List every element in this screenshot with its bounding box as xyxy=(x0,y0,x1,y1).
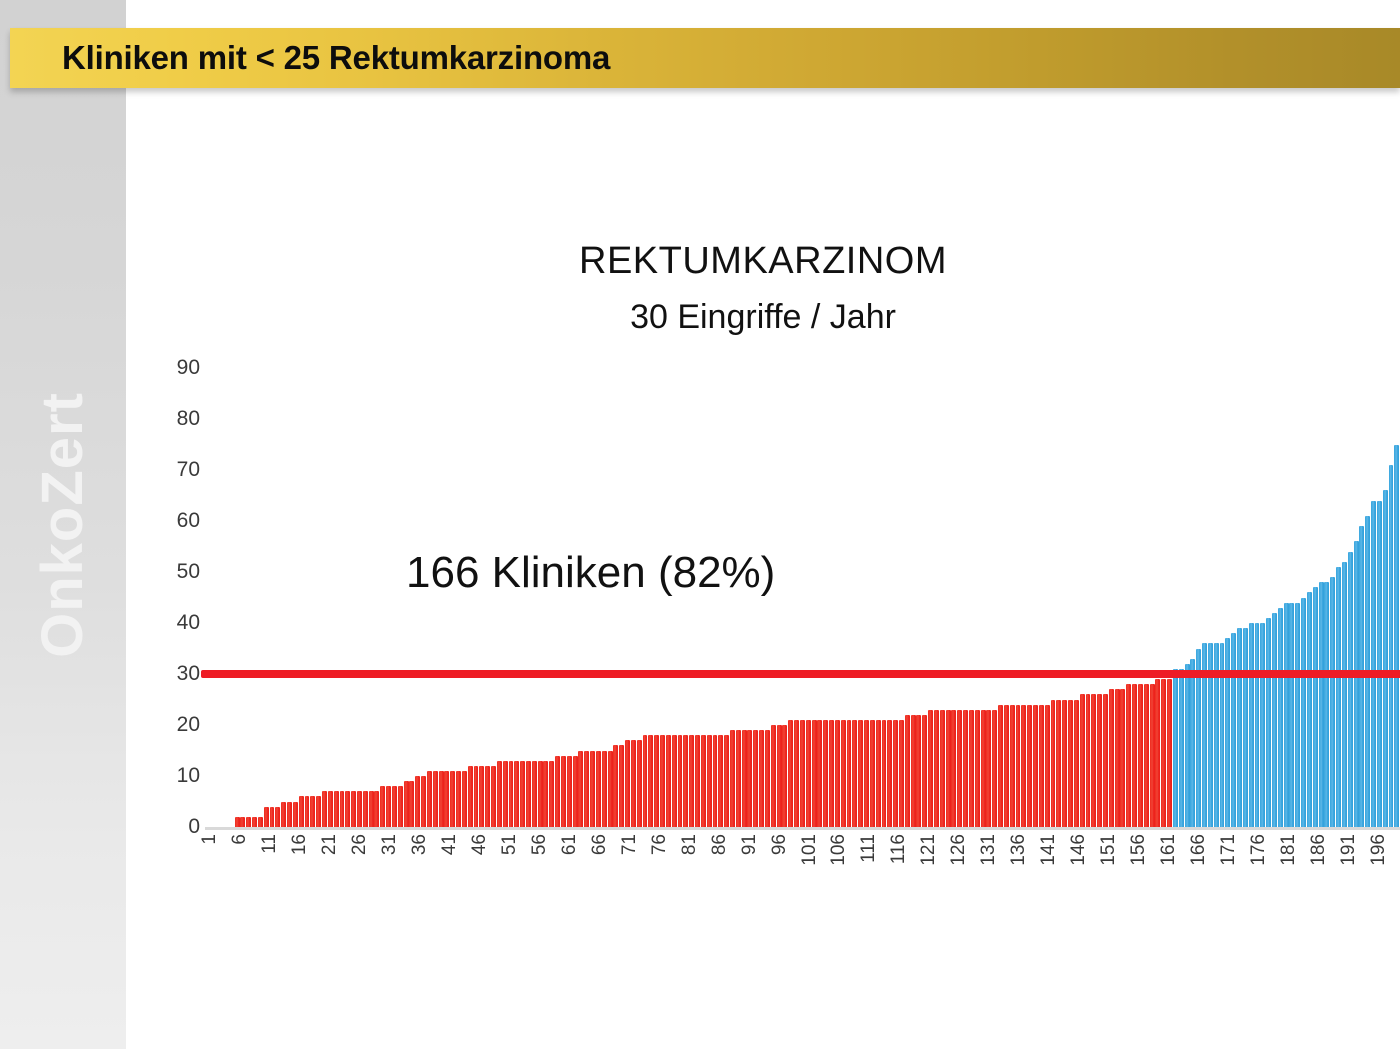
bar-fill xyxy=(386,786,391,827)
bar-fill xyxy=(1307,592,1312,827)
x-axis-tick-label: 101 xyxy=(799,834,821,866)
bar-fill xyxy=(1266,618,1271,827)
bar-fill xyxy=(392,786,397,827)
x-axis-tick-label: 81 xyxy=(679,834,701,855)
x-axis-tick-label: 71 xyxy=(619,834,641,855)
bar-fill xyxy=(625,740,630,827)
bar-fill xyxy=(1255,623,1260,827)
bar-fill xyxy=(345,791,350,827)
bar-fill xyxy=(1342,562,1347,827)
bar-fill xyxy=(788,720,793,827)
bar-fill xyxy=(1132,684,1137,827)
bar-fill xyxy=(439,771,444,827)
bar-fill xyxy=(841,720,846,827)
bar-fill xyxy=(322,791,327,827)
bar-fill xyxy=(916,715,921,827)
chart-title: REKTUMKARZINOM xyxy=(126,240,1400,283)
plot-area xyxy=(205,368,1400,827)
bar-fill xyxy=(1354,541,1359,827)
bar-fill xyxy=(240,817,245,827)
bar-fill xyxy=(870,720,875,827)
x-axis-tick-label: 116 xyxy=(888,834,910,864)
bar-fill xyxy=(1144,684,1149,827)
bar-fill xyxy=(573,756,578,827)
bar-fill xyxy=(1190,659,1195,827)
bar-fill xyxy=(514,761,519,827)
bar-fill xyxy=(310,796,315,827)
bar-fill xyxy=(380,786,385,827)
bar-fill xyxy=(299,796,304,827)
bar-fill xyxy=(1016,705,1021,827)
bar-fill xyxy=(532,761,537,827)
bar-fill xyxy=(1377,501,1382,827)
bar-fill xyxy=(777,725,782,827)
bar-fill xyxy=(281,802,286,828)
bar-fill xyxy=(747,730,752,827)
y-axis-tick-label: 0 xyxy=(80,815,200,839)
bar-fill xyxy=(433,771,438,827)
bar-fill xyxy=(258,817,263,827)
bar-fill xyxy=(1225,638,1230,827)
bar-fill xyxy=(899,720,904,827)
bar-fill xyxy=(1185,664,1190,827)
bar-fill xyxy=(823,720,828,827)
bar-fill xyxy=(328,791,333,827)
x-axis-tick-label: 151 xyxy=(1098,834,1120,866)
bar-fill xyxy=(1062,700,1067,828)
bar-fill xyxy=(1010,705,1015,827)
bar-fill xyxy=(1021,705,1026,827)
bar-fill xyxy=(584,751,589,828)
bar-fill xyxy=(235,817,240,827)
bar-fill xyxy=(1348,552,1353,827)
bar-fill xyxy=(1161,679,1166,827)
bar-fill xyxy=(608,751,613,828)
bar-fill xyxy=(538,761,543,827)
bar-fill xyxy=(404,781,409,827)
bar-fill xyxy=(882,720,887,827)
bar-fill xyxy=(1371,501,1376,827)
x-axis-tick-label: 51 xyxy=(499,834,521,855)
bar-fill xyxy=(468,766,473,827)
bar-fill xyxy=(835,720,840,827)
bar-fill xyxy=(864,720,869,827)
x-axis-tick-label: 36 xyxy=(409,834,431,855)
slide-title-banner: Kliniken mit < 25 Rektumkarzinoma xyxy=(10,28,1400,88)
bar-fill xyxy=(555,756,560,827)
bar-fill xyxy=(474,766,479,827)
bar-fill xyxy=(794,720,799,827)
bar-fill xyxy=(1115,689,1120,827)
bar-fill xyxy=(450,771,455,827)
bar-fill xyxy=(876,720,881,827)
bar-fill xyxy=(648,735,653,827)
bar-fill xyxy=(957,710,962,827)
bar-fill xyxy=(1155,679,1160,827)
bar-fill xyxy=(1097,694,1102,827)
bar-fill xyxy=(596,751,601,828)
y-axis-tick-label: 70 xyxy=(80,458,200,482)
bar-fill xyxy=(409,781,414,827)
bar-fill xyxy=(613,745,618,827)
bar-fill xyxy=(1295,603,1300,827)
bar-fill xyxy=(1330,577,1335,827)
bar-fill xyxy=(847,720,852,827)
x-axis-tick-label: 96 xyxy=(769,834,791,855)
chart-container: REKTUMKARZINOM 30 Eingriffe / Jahr 166 K… xyxy=(126,100,1400,1049)
x-axis-tick-label: 186 xyxy=(1308,834,1330,866)
bar-fill xyxy=(363,791,368,827)
bar-fill xyxy=(631,740,636,827)
x-axis-tick-label: 126 xyxy=(948,834,970,866)
bar-fill xyxy=(427,771,432,827)
y-axis-tick-label: 30 xyxy=(80,662,200,686)
x-axis-tick-label: 86 xyxy=(709,834,731,855)
bar-fill xyxy=(660,735,665,827)
y-axis-tick-label: 50 xyxy=(80,560,200,584)
bar-fill xyxy=(765,730,770,827)
bar-fill xyxy=(1249,623,1254,827)
bar-fill xyxy=(270,807,275,827)
bar-fill xyxy=(753,730,758,827)
bar-fill xyxy=(1126,684,1131,827)
x-axis-baseline xyxy=(205,827,1400,830)
bar-fill xyxy=(934,710,939,827)
bar-fill xyxy=(759,730,764,827)
bar-fill xyxy=(1278,608,1283,827)
x-axis-tick-label: 31 xyxy=(379,834,401,855)
bar-fill xyxy=(421,776,426,827)
bar-fill xyxy=(963,710,968,827)
bar-fill xyxy=(1074,700,1079,828)
bar-fill xyxy=(462,771,467,827)
bar-fill xyxy=(316,796,321,827)
x-axis-tick-label: 11 xyxy=(259,834,281,854)
slide-title: Kliniken mit < 25 Rektumkarzinoma xyxy=(62,39,610,77)
x-axis-tick-label: 131 xyxy=(978,834,1000,866)
y-axis-tick-label: 20 xyxy=(80,713,200,737)
x-axis-tick-label: 181 xyxy=(1278,834,1300,866)
bar-fill xyxy=(893,720,898,827)
bar-fill xyxy=(1324,582,1329,827)
bar-fill xyxy=(858,720,863,827)
bar-fill xyxy=(415,776,420,827)
bar-fill xyxy=(782,725,787,827)
bar-fill xyxy=(1091,694,1096,827)
y-axis-tick-label: 60 xyxy=(80,509,200,533)
bar-fill xyxy=(590,751,595,828)
bar-fill xyxy=(736,730,741,827)
bar-fill xyxy=(1301,598,1306,828)
bar-fill xyxy=(351,791,356,827)
bar-fill xyxy=(1004,705,1009,827)
bar-fill xyxy=(1109,689,1114,827)
x-axis-tick-label: 6 xyxy=(229,834,251,845)
x-axis-tick-label: 136 xyxy=(1008,834,1030,866)
bar-fill xyxy=(561,756,566,827)
chart-subtitle: 30 Eingriffe / Jahr xyxy=(126,298,1400,337)
bar-fill xyxy=(1260,623,1265,827)
bar-fill xyxy=(724,735,729,827)
x-axis-tick-label: 91 xyxy=(739,834,761,855)
bar-fill xyxy=(981,710,986,827)
bar-fill xyxy=(951,710,956,827)
bar-fill xyxy=(264,807,269,827)
bar-fill xyxy=(1237,628,1242,827)
bar-fill xyxy=(1120,689,1125,827)
bar-fill xyxy=(1179,669,1184,827)
bar-fill xyxy=(503,761,508,827)
bar-fill xyxy=(1086,694,1091,827)
bar-fill xyxy=(520,761,525,827)
bar-fill xyxy=(1045,705,1050,827)
x-axis: 1611162126313641465156616671768186919610… xyxy=(205,834,1400,944)
bar-fill xyxy=(1150,684,1155,827)
x-axis-tick-label: 156 xyxy=(1128,834,1150,866)
bar-fill xyxy=(1167,679,1172,827)
bar-fill xyxy=(707,735,712,827)
x-axis-tick-label: 111 xyxy=(858,834,880,863)
bar-fill xyxy=(340,791,345,827)
bar-fill xyxy=(543,761,548,827)
bar-fill xyxy=(1319,582,1324,827)
x-axis-tick-label: 121 xyxy=(918,834,940,866)
bar-series xyxy=(205,368,1400,827)
bar-fill xyxy=(1289,603,1294,827)
y-axis-tick-label: 80 xyxy=(80,407,200,431)
bar-fill xyxy=(771,725,776,827)
x-axis-tick-label: 161 xyxy=(1158,834,1180,866)
bar-fill xyxy=(479,766,484,827)
bar-fill xyxy=(946,710,951,827)
x-axis-tick-label: 66 xyxy=(589,834,611,855)
bar-fill xyxy=(1103,694,1108,827)
bar-fill xyxy=(986,710,991,827)
bar-fill xyxy=(637,740,642,827)
bar-fill xyxy=(928,710,933,827)
x-axis-tick-label: 76 xyxy=(649,834,671,855)
bar-fill xyxy=(666,735,671,827)
bar-fill xyxy=(742,730,747,827)
bar-fill xyxy=(713,735,718,827)
bar-fill xyxy=(374,791,379,827)
bar-fill xyxy=(695,735,700,827)
bar-fill xyxy=(969,710,974,827)
bar-fill xyxy=(246,817,251,827)
bar-fill xyxy=(1138,684,1143,827)
bar-fill xyxy=(509,761,514,827)
bar-fill xyxy=(305,796,310,827)
bar-fill xyxy=(1389,465,1394,827)
bar-fill xyxy=(689,735,694,827)
threshold-line xyxy=(201,670,1400,678)
bar-fill xyxy=(1027,705,1032,827)
x-axis-tick-label: 41 xyxy=(439,834,461,855)
bar-fill xyxy=(683,735,688,827)
bar-fill xyxy=(998,705,1003,827)
bar-fill xyxy=(806,720,811,827)
bar-fill xyxy=(369,791,374,827)
bar-fill xyxy=(800,720,805,827)
x-axis-tick-label: 106 xyxy=(828,834,850,866)
bar-fill xyxy=(672,735,677,827)
x-axis-tick-label: 26 xyxy=(349,834,371,855)
bar-fill xyxy=(817,720,822,827)
bar-fill xyxy=(1383,490,1388,827)
bar-fill xyxy=(1033,705,1038,827)
bar-fill xyxy=(578,751,583,828)
bar-fill xyxy=(1394,445,1399,828)
bar-fill xyxy=(887,720,892,827)
bar-fill xyxy=(643,735,648,827)
bar-fill xyxy=(526,761,531,827)
bar-fill xyxy=(730,730,735,827)
x-axis-tick-label: 171 xyxy=(1218,834,1240,866)
bar-fill xyxy=(812,720,817,827)
bar-fill xyxy=(1173,669,1178,827)
bar-fill xyxy=(1039,705,1044,827)
x-axis-tick-label: 196 xyxy=(1368,834,1390,866)
x-axis-tick-label: 146 xyxy=(1068,834,1090,866)
x-axis-tick-label: 166 xyxy=(1188,834,1210,866)
bar-fill xyxy=(922,715,927,827)
bar-fill xyxy=(491,766,496,827)
bar-fill xyxy=(678,735,683,827)
bar-fill xyxy=(1068,700,1073,828)
bar-fill xyxy=(357,791,362,827)
bar-fill xyxy=(911,715,916,827)
bar-fill xyxy=(567,756,572,827)
bar-fill xyxy=(549,761,554,827)
bar-fill xyxy=(1080,694,1085,827)
bar-fill xyxy=(293,802,298,828)
x-axis-tick-label: 191 xyxy=(1338,834,1360,866)
bar-fill xyxy=(905,715,910,827)
bar-fill xyxy=(940,710,945,827)
x-axis-tick-label: 176 xyxy=(1248,834,1270,866)
x-axis-tick-label: 1 xyxy=(199,834,221,845)
bar-fill xyxy=(456,771,461,827)
bar-fill xyxy=(1051,700,1056,828)
bar-fill xyxy=(1284,603,1289,827)
x-axis-tick-label: 16 xyxy=(289,834,311,855)
bar-fill xyxy=(1313,587,1318,827)
x-axis-tick-label: 46 xyxy=(469,834,491,855)
bar-fill xyxy=(852,720,857,827)
bar-fill xyxy=(1336,567,1341,827)
bar-fill xyxy=(654,735,659,827)
bar-fill xyxy=(334,791,339,827)
bar-fill xyxy=(619,745,624,827)
bar-fill xyxy=(1231,633,1236,827)
bar-fill xyxy=(252,817,257,827)
bar-fill xyxy=(485,766,490,827)
bar-fill xyxy=(602,751,607,828)
x-axis-tick-label: 56 xyxy=(529,834,551,855)
y-axis-tick-label: 10 xyxy=(80,764,200,788)
bar-fill xyxy=(992,710,997,827)
bar-fill xyxy=(975,710,980,827)
bar-fill xyxy=(398,786,403,827)
bar-fill xyxy=(1243,628,1248,827)
y-axis-tick-label: 90 xyxy=(80,356,200,380)
bar-fill xyxy=(287,802,292,828)
y-axis-tick-label: 40 xyxy=(80,611,200,635)
bar-fill xyxy=(701,735,706,827)
bar-fill xyxy=(444,771,449,827)
bar-fill xyxy=(718,735,723,827)
bar-fill xyxy=(497,761,502,827)
bar-fill xyxy=(1056,700,1061,828)
bar-fill xyxy=(275,807,280,827)
x-axis-tick-label: 61 xyxy=(559,834,581,855)
bar-fill xyxy=(1272,613,1277,827)
x-axis-tick-label: 141 xyxy=(1038,834,1060,866)
x-axis-tick-label: 21 xyxy=(319,834,341,855)
bar-fill xyxy=(829,720,834,827)
